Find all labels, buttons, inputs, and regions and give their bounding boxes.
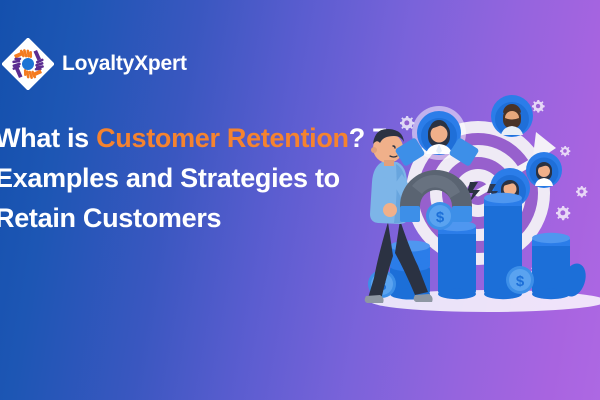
svg-text:$: $: [436, 209, 445, 226]
headline-line-1-pre: What is: [0, 123, 96, 153]
promo-banner: LoyaltyXpert What is Customer Retention?…: [0, 0, 600, 400]
headline-line-2: Examples and Strategies to: [0, 158, 415, 198]
headline-accent: Customer Retention: [96, 123, 349, 153]
svg-text:$: $: [516, 273, 525, 290]
brand-logo[interactable]: LoyaltyXpert: [2, 38, 187, 90]
headline: What is Customer Retention? 7 Examples a…: [0, 118, 415, 238]
coin-stack: [438, 221, 476, 299]
customer-retention-magnet-illustration: $ $ $: [360, 88, 600, 328]
avatar: [491, 95, 533, 137]
brand-wordmark: LoyaltyXpert: [62, 52, 187, 76]
headline-line-3: Retain Customers: [0, 198, 415, 238]
avatar: [526, 152, 562, 188]
headline-line-1: What is Customer Retention? 7: [0, 118, 415, 158]
loyaltyxpert-hands-diamond-logo: [2, 38, 54, 90]
dollar-coin: $: [426, 202, 454, 230]
dollar-coin: $: [506, 266, 534, 294]
